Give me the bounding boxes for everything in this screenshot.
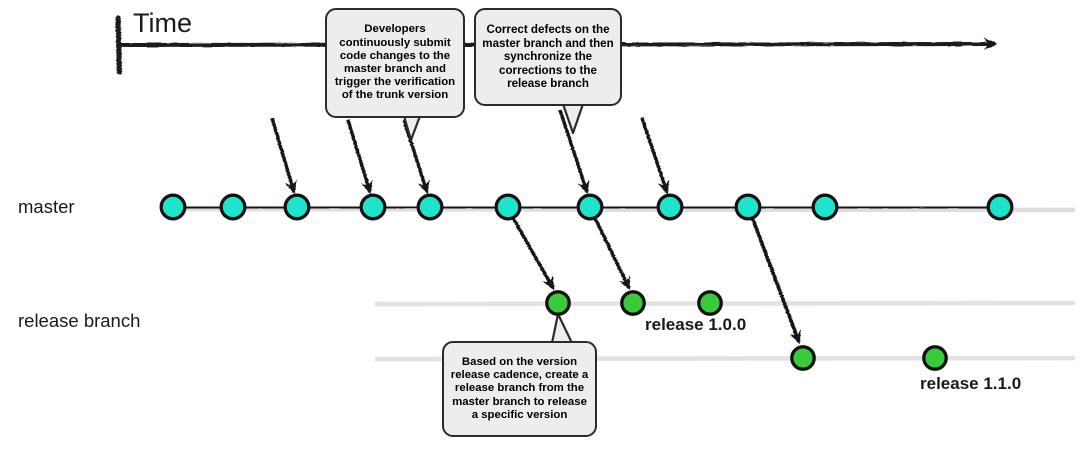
release-branch-label: release branch <box>18 310 140 332</box>
commit-node <box>622 292 644 314</box>
commit-node <box>988 195 1012 219</box>
callout-text: Correct defects on the master branch and… <box>481 23 615 90</box>
release-1-1-0-label: release 1.1.0 <box>920 374 1021 394</box>
time-axis-label: Time <box>133 8 192 39</box>
callout-developers-commit: Developers continuously submit code chan… <box>325 8 465 118</box>
callout-correct-defects: Correct defects on the master branch and… <box>474 8 622 106</box>
commit-node <box>361 195 385 219</box>
commit-node <box>547 292 569 314</box>
callout-text: Developers continuously submit code chan… <box>332 23 458 102</box>
master-branch-label: master <box>18 196 75 218</box>
commit-node <box>699 292 721 314</box>
guide-lines <box>160 209 1075 359</box>
commit-node <box>813 195 837 219</box>
diagram-root: Time master release branch release 1.0.0… <box>0 0 1080 452</box>
commit-node <box>418 195 442 219</box>
commit-node <box>496 195 520 219</box>
callout-create-release-branch: Based on the version release cadence, cr… <box>442 341 597 437</box>
callout-pointer-arrows-developers <box>272 118 427 192</box>
release-1-0-0-label: release 1.0.0 <box>645 315 746 335</box>
commit-node <box>161 195 185 219</box>
callout-text: Based on the version release cadence, cr… <box>449 356 590 422</box>
commit-node <box>736 195 760 219</box>
commit-node <box>792 347 814 369</box>
commit-node <box>578 195 602 219</box>
commit-node <box>658 195 682 219</box>
commit-node <box>924 347 946 369</box>
commit-node <box>221 195 245 219</box>
commit-node <box>285 195 309 219</box>
